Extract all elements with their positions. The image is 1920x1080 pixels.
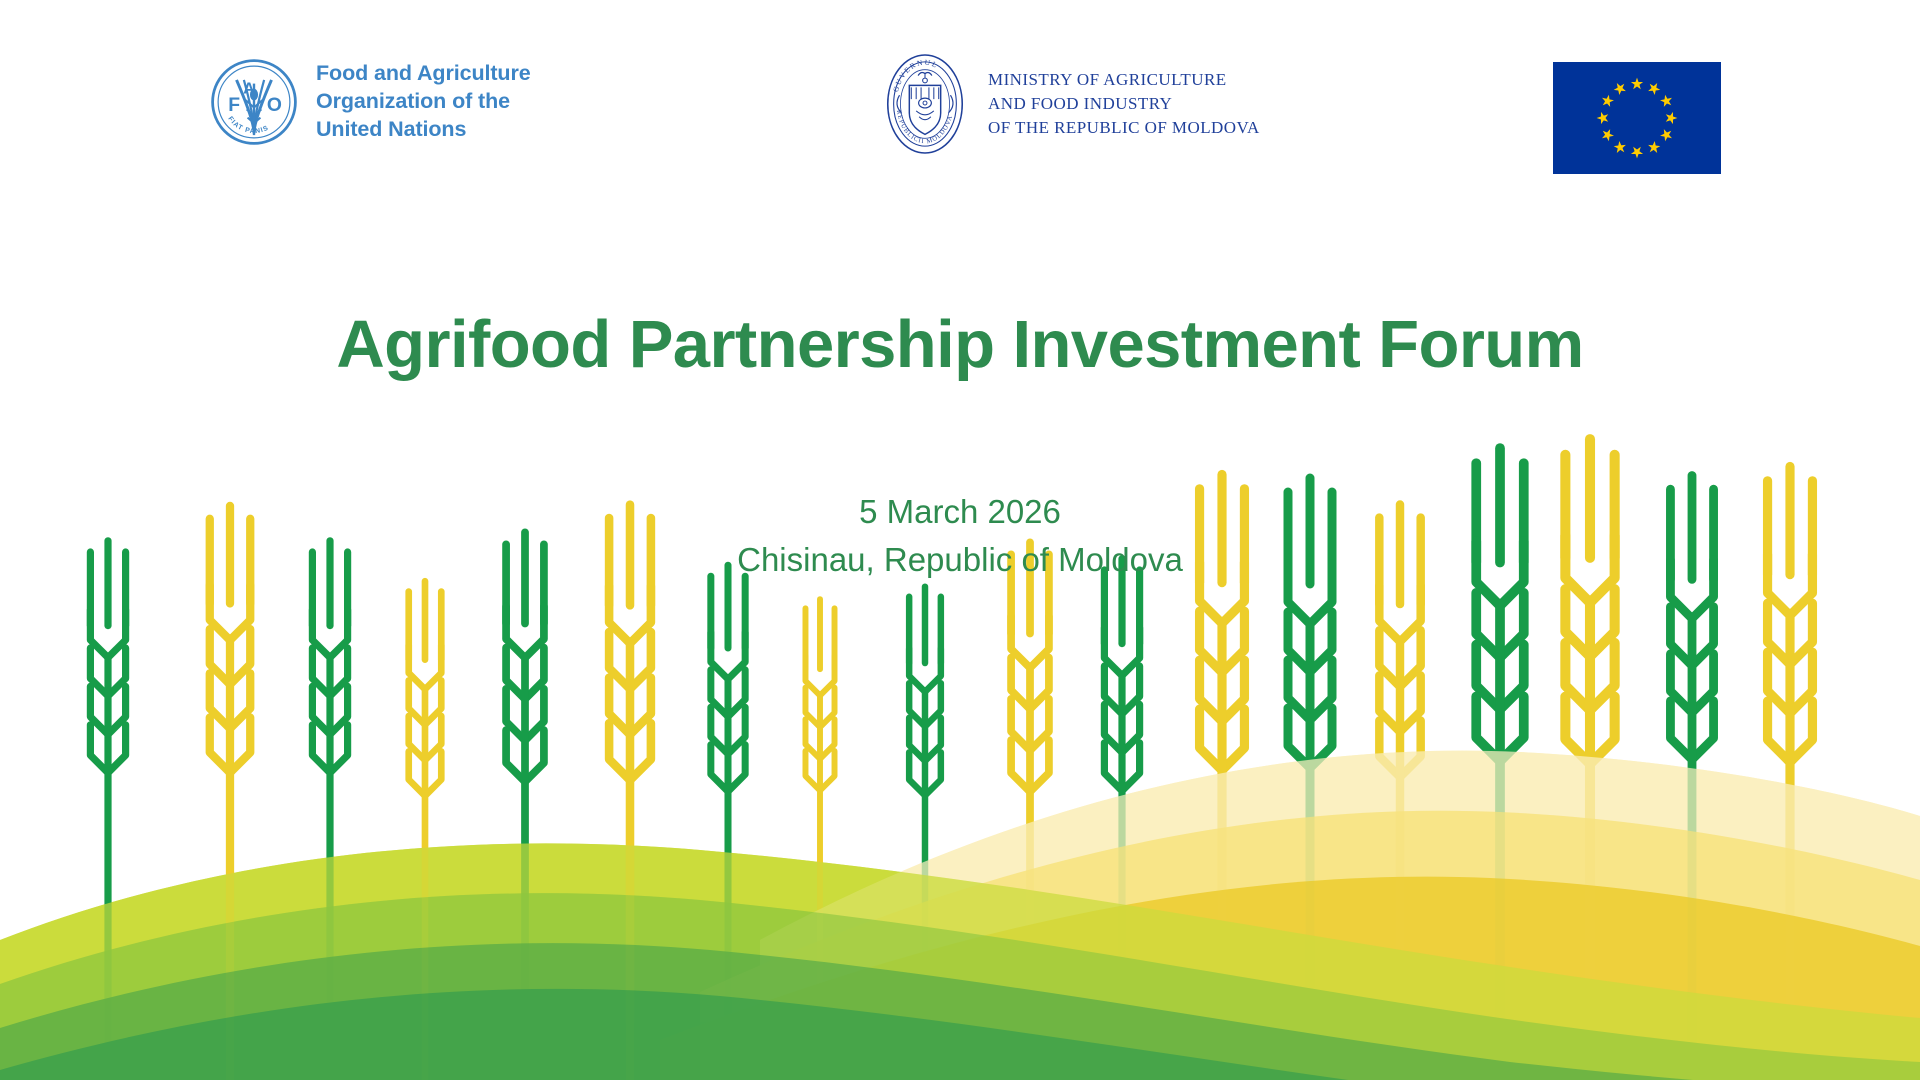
svg-text:O: O (267, 95, 282, 116)
event-location: Chisinau, Republic of Moldova (0, 536, 1920, 584)
fao-line-3: United Nations (316, 116, 531, 144)
event-details: 5 March 2026 Chisinau, Republic of Moldo… (0, 488, 1920, 583)
fao-wordmark: Food and Agriculture Organization of the… (316, 60, 531, 144)
fao-logo: F A O FIAT PANIS Food and Agriculture Or… (208, 56, 531, 148)
event-date: 5 March 2026 (0, 488, 1920, 536)
ministry-line-1: MINISTRY OF AGRICULTURE (988, 68, 1260, 92)
moldova-ministry-logo: GUVERNUL REPUBLICII MOLDOVA (876, 52, 1260, 156)
hill-bands-overlay (0, 751, 1920, 1080)
ministry-line-3: OF THE REPUBLIC OF MOLDOVA (988, 116, 1260, 140)
poster-canvas: F A O FIAT PANIS Food and Agriculture Or… (0, 0, 1920, 1080)
ministry-wordmark: MINISTRY OF AGRICULTURE AND FOOD INDUSTR… (988, 68, 1260, 140)
wheat-field-illustration (0, 380, 1920, 1080)
logo-bar: F A O FIAT PANIS Food and Agriculture Or… (0, 0, 1920, 200)
european-union-flag-icon (1553, 62, 1721, 174)
fao-line-2: Organization of the (316, 88, 531, 116)
svg-text:A: A (243, 81, 254, 98)
fao-emblem-icon: F A O FIAT PANIS (208, 56, 300, 148)
svg-text:F: F (228, 95, 240, 116)
ministry-line-2: AND FOOD INDUSTRY (988, 92, 1260, 116)
moldova-government-seal-icon: GUVERNUL REPUBLICII MOLDOVA (876, 52, 974, 156)
fao-line-1: Food and Agriculture (316, 60, 531, 88)
page-title: Agrifood Partnership Investment Forum (0, 310, 1920, 380)
